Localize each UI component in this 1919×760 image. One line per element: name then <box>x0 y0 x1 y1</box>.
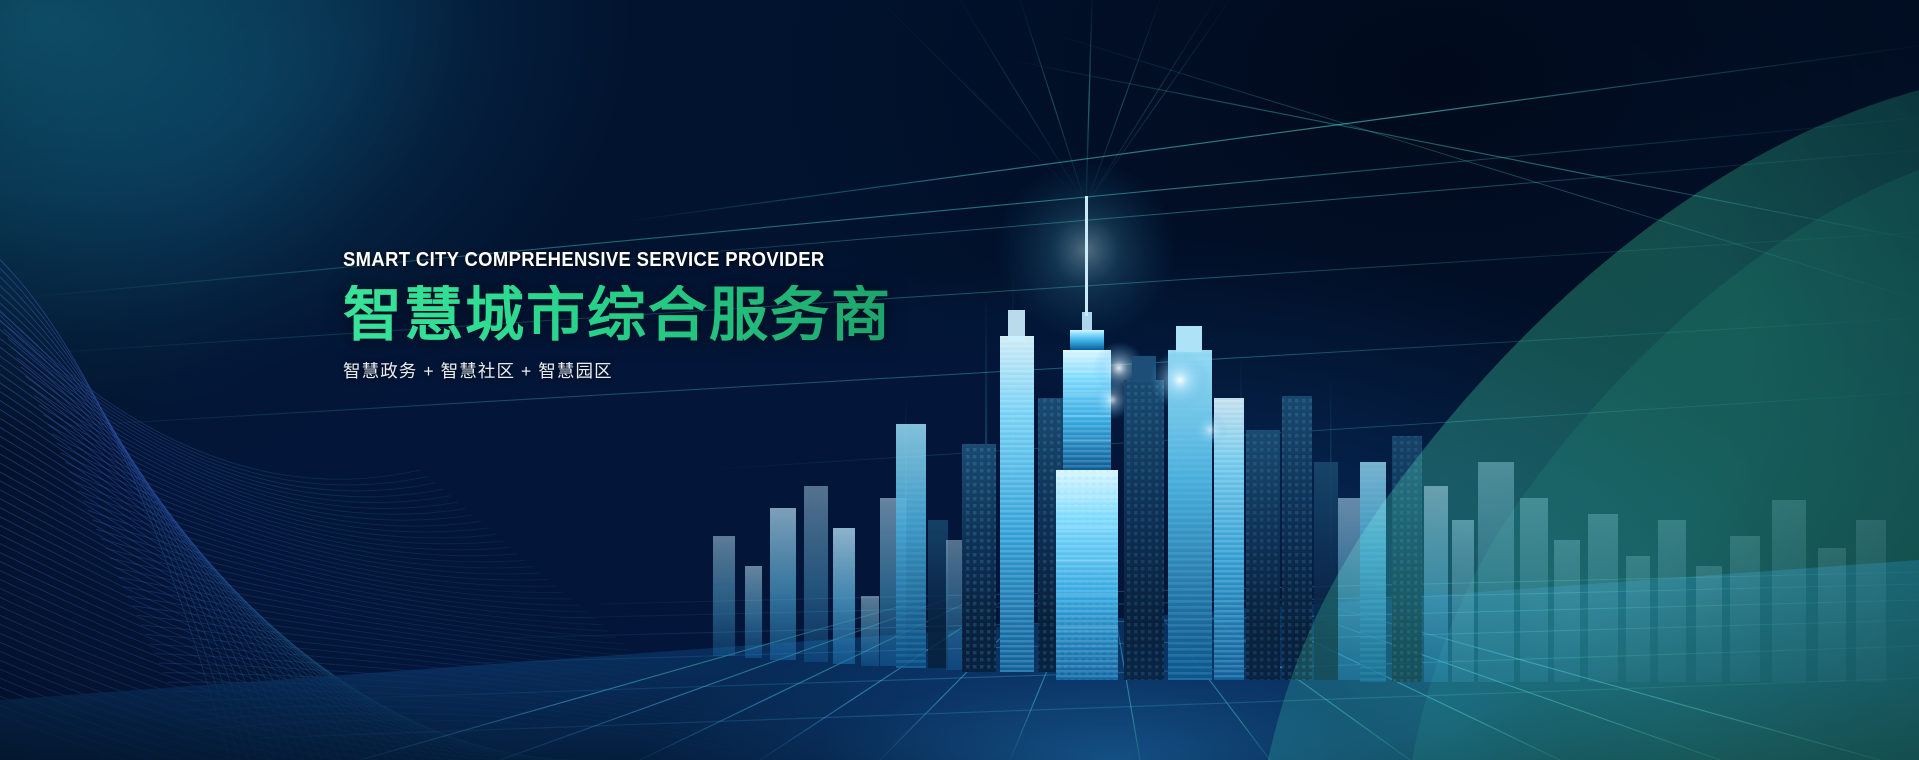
hero-copy-block: SMART CITY COMPREHENSIVE SERVICE PROVIDE… <box>343 250 1103 380</box>
perspective-grid-floor <box>0 560 1919 760</box>
hero-banner: SMART CITY COMPREHENSIVE SERVICE PROVIDE… <box>0 0 1919 760</box>
hero-eyebrow-english: SMART CITY COMPREHENSIVE SERVICE PROVIDE… <box>343 250 1027 271</box>
hero-subline-services: 智慧政务 + 智慧社区 + 智慧园区 <box>343 363 1103 381</box>
far-right-ghost-blocks <box>1360 436 1886 682</box>
hero-headline-chinese: 智慧城市综合服务商 <box>343 285 1103 345</box>
right-towers <box>1124 326 1360 680</box>
foreground-bar-buildings <box>713 424 970 670</box>
